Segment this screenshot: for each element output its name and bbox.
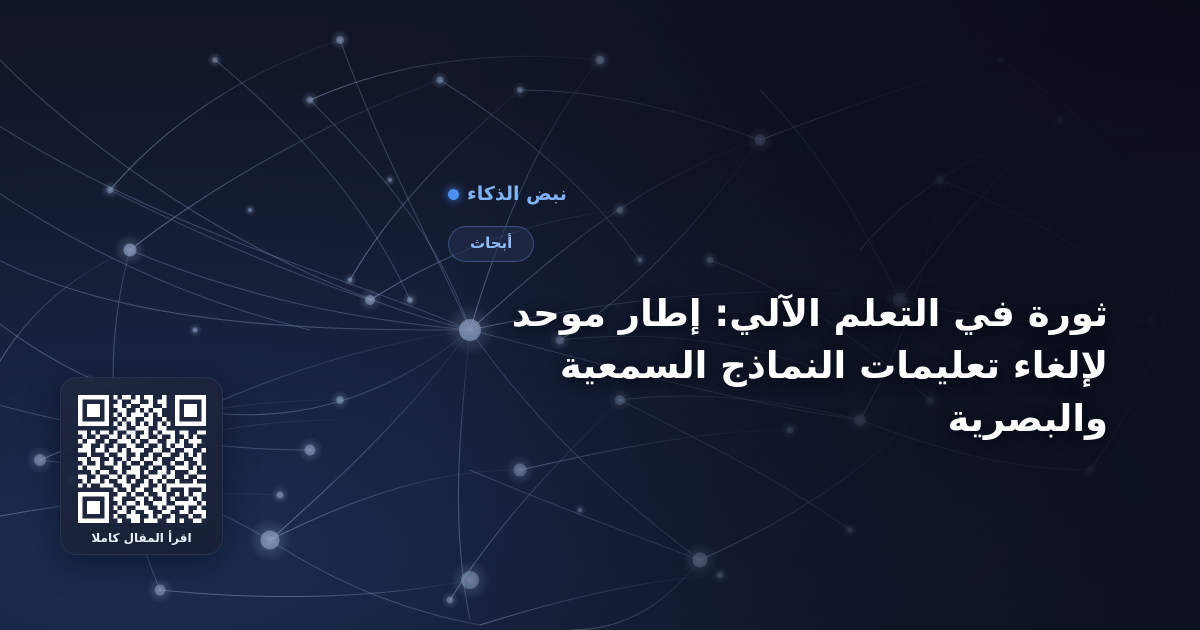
category-badge[interactable]: أبحاث [448,226,534,262]
brand: نبض الذكاء [448,185,567,204]
social-share-card: اقرأ المقال كاملا نبض الذكاء أبحاث ثورة … [0,0,1200,630]
qr-caption: اقرأ المقال كاملا [91,532,191,544]
content-column: نبض الذكاء أبحاث ثورة في التعلم الآلي: إ… [448,0,1148,630]
brand-dot-icon [448,189,459,200]
page-title: ثورة في التعلم الآلي: إطار موحد لإلغاء ت… [448,288,1108,446]
qr-code-card[interactable]: اقرأ المقال كاملا [60,377,223,555]
qr-code-icon[interactable] [78,395,206,523]
brand-name: نبض الذكاء [467,185,567,204]
